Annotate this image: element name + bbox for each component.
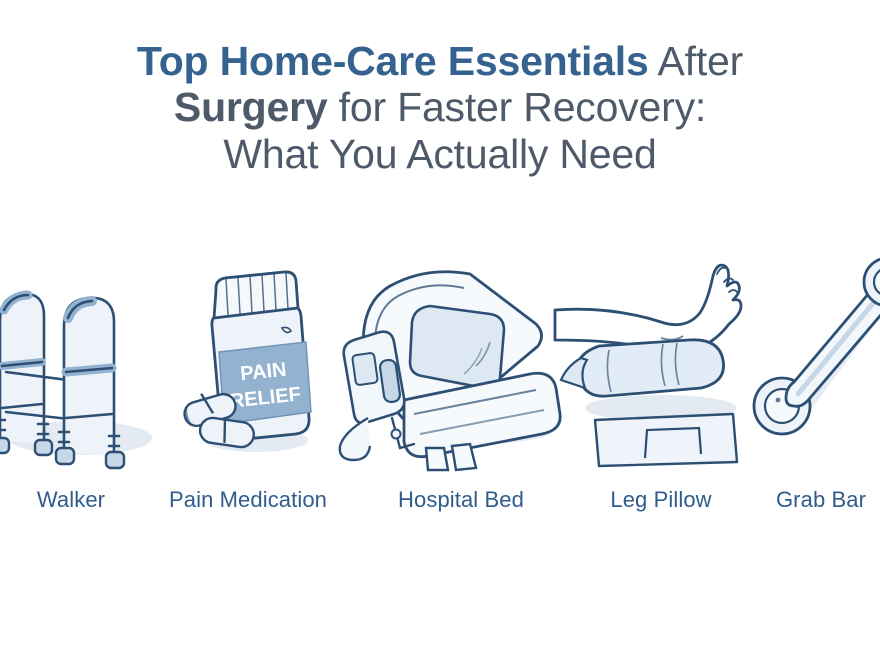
headline-emphasis-blue: Top Home-Care Essentials bbox=[137, 38, 649, 84]
label-pain-medication: Pain Medication bbox=[150, 486, 346, 514]
headline-line-1: Top Home-Care Essentials After bbox=[0, 38, 880, 84]
hospital-bed-illustration bbox=[330, 248, 565, 470]
headline-text-recovery: for Faster Recovery: bbox=[327, 84, 706, 130]
label-leg-pillow: Leg Pillow bbox=[572, 486, 750, 514]
headline-text-subtitle: What You Actually Need bbox=[223, 131, 656, 177]
label-grab-bar: Grab Bar bbox=[754, 486, 880, 514]
headline-emphasis-surgery: Surgery bbox=[174, 84, 328, 130]
headline-line-2: Surgery for Faster Recovery: bbox=[0, 84, 880, 130]
walker-illustration bbox=[0, 248, 172, 470]
essentials-label-row: Walker Pain Medication Hospital Bed Leg … bbox=[0, 486, 880, 520]
bed-sheet bbox=[595, 414, 737, 466]
headline-line-3: What You Actually Need bbox=[0, 131, 880, 177]
page-title: Top Home-Care Essentials After Surgery f… bbox=[0, 38, 880, 177]
bed-cord bbox=[340, 418, 370, 460]
label-hospital-bed: Hospital Bed bbox=[350, 486, 572, 514]
wedge-pillow bbox=[577, 340, 723, 396]
essentials-icon-row: PAIN RELIEF bbox=[0, 248, 880, 470]
bed-side-rail bbox=[344, 332, 405, 423]
grab-bar-illustration bbox=[752, 248, 880, 470]
poster-canvas: Top Home-Care Essentials After Surgery f… bbox=[0, 0, 880, 660]
grabbar-shaft bbox=[786, 276, 880, 407]
label-walker: Walker bbox=[0, 486, 142, 514]
headline-text-after: After bbox=[649, 38, 744, 84]
leg-pillow-illustration bbox=[565, 248, 755, 470]
bed-pillow bbox=[410, 306, 504, 388]
leg-and-foot bbox=[555, 265, 741, 354]
pill-bottle-illustration: PAIN RELIEF bbox=[178, 248, 328, 470]
